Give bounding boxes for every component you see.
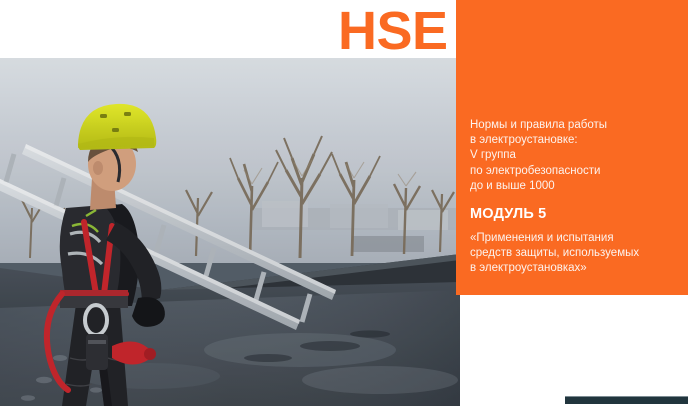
module-subtitle-quote: «Применения и испытания средств защиты, … bbox=[470, 231, 675, 277]
module-title: МОДУЛЬ 5 bbox=[470, 205, 675, 224]
cover-photo-illustration bbox=[0, 58, 460, 406]
cover-photo bbox=[0, 58, 460, 406]
title-block: Нормы и правила работы в электроустановк… bbox=[470, 118, 675, 277]
slide-canvas: HSE Нормы и правила работы в электроуста… bbox=[0, 0, 688, 406]
course-description: Нормы и правила работы в электроустановк… bbox=[470, 118, 675, 194]
hse-logo: HSE bbox=[338, 2, 448, 60]
bottom-accent-bar bbox=[565, 396, 688, 404]
